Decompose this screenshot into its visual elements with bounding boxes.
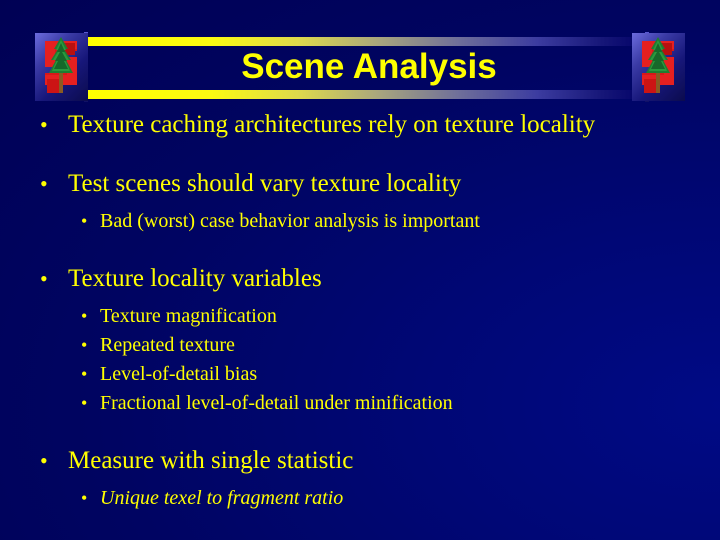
bullet-marker-icon: • bbox=[81, 302, 87, 331]
bullet-text: Texture locality variables bbox=[68, 262, 322, 295]
bullet-marker-icon: • bbox=[81, 484, 87, 513]
bullet-text: Unique texel to fragment ratio bbox=[100, 484, 343, 513]
bullet-text: Measure with single statistic bbox=[68, 444, 353, 477]
bullet-marker-icon: • bbox=[81, 207, 87, 236]
bullet-spacer bbox=[0, 477, 720, 484]
bullet-text: Bad (worst) case behavior analysis is im… bbox=[100, 207, 480, 236]
bullet-text: Test scenes should vary texture locality bbox=[68, 167, 461, 200]
bullet-spacer bbox=[0, 236, 720, 262]
bullet-spacer bbox=[0, 418, 720, 444]
bullet-text: Fractional level-of-detail under minific… bbox=[100, 389, 453, 418]
bullet-marker-icon: • bbox=[81, 360, 87, 389]
bullet-item-level2: •Bad (worst) case behavior analysis is i… bbox=[0, 207, 720, 236]
stanford-tree-s-icon bbox=[35, 33, 88, 101]
bullet-spacer bbox=[0, 200, 720, 207]
slide-body: •Texture caching architectures rely on t… bbox=[0, 108, 720, 513]
bullet-text: Texture caching architectures rely on te… bbox=[68, 108, 595, 141]
stanford-tree-s-logo-left bbox=[35, 33, 88, 101]
stanford-tree-s-icon bbox=[632, 33, 685, 101]
bullet-item-level1: •Measure with single statistic bbox=[0, 444, 720, 477]
bullet-item-level1: •Test scenes should vary texture localit… bbox=[0, 167, 720, 200]
bullet-text: Texture magnification bbox=[100, 302, 277, 331]
title-banner: Scene Analysis bbox=[35, 32, 685, 102]
bullet-marker-icon: • bbox=[40, 167, 48, 200]
bullet-item-level2: •Fractional level-of-detail under minifi… bbox=[0, 389, 720, 418]
bullet-item-level2: •Level-of-detail bias bbox=[0, 360, 720, 389]
bullet-item-level2: •Unique texel to fragment ratio bbox=[0, 484, 720, 513]
bullet-spacer bbox=[0, 141, 720, 167]
bullet-item-level2: •Texture magnification bbox=[0, 302, 720, 331]
bullet-marker-icon: • bbox=[81, 389, 87, 418]
bullet-marker-icon: • bbox=[40, 108, 48, 141]
banner-rule-bottom bbox=[88, 90, 649, 99]
bullet-text: Level-of-detail bias bbox=[100, 360, 257, 389]
bullet-marker-icon: • bbox=[81, 331, 87, 360]
slide-title: Scene Analysis bbox=[95, 45, 643, 89]
bullet-text: Repeated texture bbox=[100, 331, 235, 360]
bullet-item-level2: •Repeated texture bbox=[0, 331, 720, 360]
bullet-marker-icon: • bbox=[40, 262, 48, 295]
bullet-spacer bbox=[0, 295, 720, 302]
stanford-tree-s-logo-right bbox=[632, 33, 685, 101]
bullet-marker-icon: • bbox=[40, 444, 48, 477]
bullet-item-level1: •Texture locality variables bbox=[0, 262, 720, 295]
bullet-item-level1: •Texture caching architectures rely on t… bbox=[0, 108, 720, 141]
presentation-slide: Scene Analysis bbox=[0, 0, 720, 540]
